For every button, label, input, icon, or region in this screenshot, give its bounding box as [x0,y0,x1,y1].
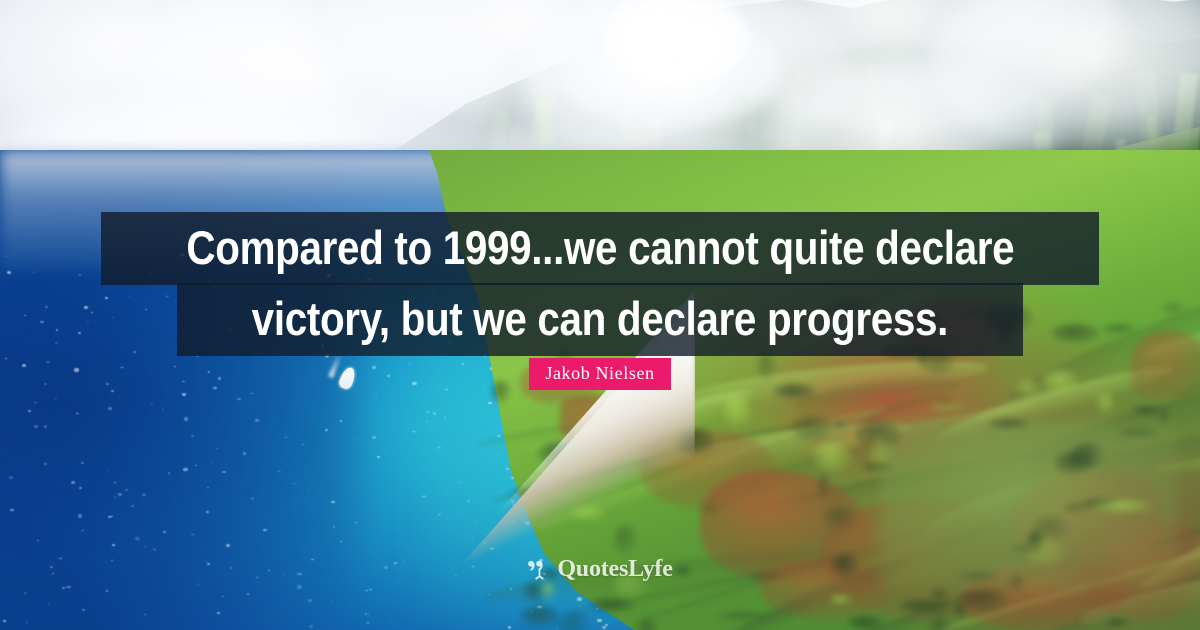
quote-line-2: victory, but we can declare progress. [252,295,948,342]
quote-line-1-highlight: Compared to 1999...we cannot quite decla… [101,212,1100,285]
author-row: Jakob Nielsen [0,358,1200,390]
quote-line-2-highlight: victory, but we can declare progress. [177,283,1023,356]
quote-line-2-row: victory, but we can declare progress. [0,283,1200,356]
quote-line-1: Compared to 1999...we cannot quite decla… [186,224,1014,271]
quote-card: Compared to 1999...we cannot quite decla… [0,0,1200,630]
author-badge[interactable]: Jakob Nielsen [529,358,670,390]
quote-line-1-row: Compared to 1999...we cannot quite decla… [0,212,1200,285]
watermark[interactable]: QuotesLyfe [0,556,1200,583]
watermark-brand: QuotesLyfe [557,556,672,583]
quote-mark-icon [527,558,550,581]
